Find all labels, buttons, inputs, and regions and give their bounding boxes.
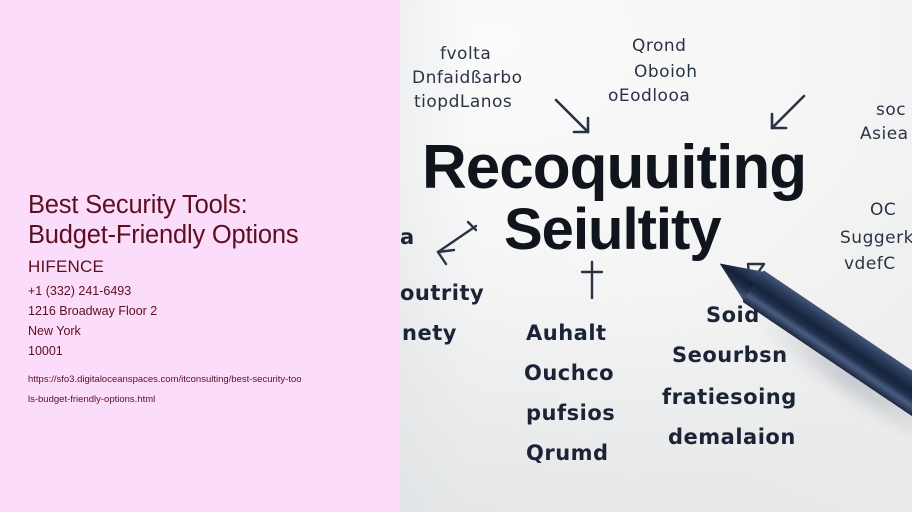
- scribble-word: Suggerk: [840, 226, 912, 251]
- company-name: HIFENCE: [28, 256, 383, 278]
- scribble-word: Seourbsn: [672, 340, 788, 370]
- arrow-check-icon: [744, 258, 772, 292]
- scribble-word: Qrond: [632, 34, 686, 59]
- scribble-word: Oboioh: [634, 60, 697, 85]
- arrow-small-up-icon: [578, 258, 608, 300]
- arrow-left-slash-icon: [420, 220, 484, 264]
- article-info-block: Best Security Tools: Budget-Friendly Opt…: [28, 190, 383, 410]
- page-title: Best Security Tools: Budget-Friendly Opt…: [28, 190, 383, 250]
- scribble-word: nety: [402, 318, 457, 348]
- scribble-word: soc: [876, 98, 906, 123]
- page-root: Best Security Tools: Budget-Friendly Opt…: [0, 0, 912, 512]
- scribble-word: fvolta: [440, 42, 491, 67]
- scribble-word: a: [400, 222, 415, 252]
- headline-word-secondary: Seiultity: [504, 196, 721, 263]
- scribble-word: tiopdLanos: [414, 90, 512, 115]
- address-zip: 10001: [28, 341, 383, 361]
- scribble-word: oEodlooa: [608, 84, 690, 109]
- source-url-line-2: ls-budget-friendly-options.html: [28, 390, 383, 410]
- phone-number: +1 (332) 241-6493: [28, 281, 383, 301]
- scribble-word: demalaion: [668, 422, 796, 452]
- scribble-word: Dnfaidßarbo: [412, 66, 523, 91]
- scribble-word: Ouchco: [524, 358, 614, 388]
- scribble-word: fratiesoing: [662, 382, 797, 412]
- article-hero-image: fvoltaDnfaidßarbotiopdLanosQrondOboiohoE…: [400, 0, 912, 512]
- scribble-word: Asiea: [860, 122, 909, 147]
- address-street: 1216 Broadway Floor 2: [28, 301, 383, 321]
- source-url-line-1: https://sfo3.digitaloceanspaces.com/itco…: [28, 370, 383, 390]
- headline-word-primary: Recoquuiting: [422, 132, 806, 203]
- scribble-word: Auhalt: [526, 318, 607, 348]
- scribble-word: Qrumd: [526, 438, 609, 468]
- scribble-word: pufsios: [526, 398, 615, 428]
- scribble-word: vdefC: [844, 252, 896, 277]
- left-info-panel: Best Security Tools: Budget-Friendly Opt…: [0, 0, 400, 512]
- scribble-word: outrity: [400, 278, 484, 308]
- scribble-word: Soid: [706, 300, 760, 330]
- address-city: New York: [28, 321, 383, 341]
- source-url[interactable]: https://sfo3.digitaloceanspaces.com/itco…: [28, 370, 383, 410]
- scribble-word: OC: [870, 198, 896, 223]
